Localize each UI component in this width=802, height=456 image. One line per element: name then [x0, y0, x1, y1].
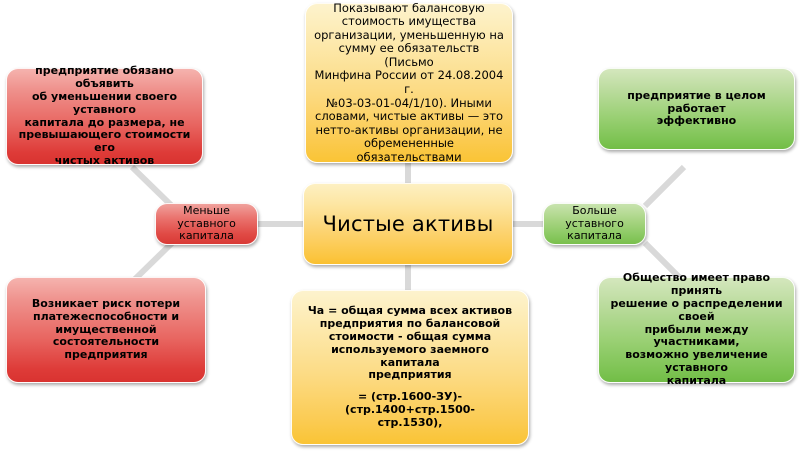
branch-label-more-text: Больше уставного капитала: [552, 205, 637, 244]
connector-less-to-topleft: [132, 167, 172, 206]
branch-label-less: Меньше уставного капитала: [155, 203, 258, 245]
formula-description: Ча = общая сумма всех активов предприяти…: [300, 305, 520, 383]
formula-box: Ча = общая сумма всех активов предприяти…: [291, 290, 529, 445]
center-node-net-assets: Чистые активы: [303, 183, 513, 265]
negative-consequence-text-2: Возникает риск потери платежеспособности…: [15, 298, 197, 363]
positive-consequence-text-1: предприятие в целом работает эффективно: [607, 90, 786, 129]
negative-consequence-text-1: предприятие обязано объявить об уменьшен…: [15, 65, 194, 169]
diagram-canvas: Показывают балансовую стоимость имуществ…: [0, 0, 802, 456]
connector-more-to-topright: [645, 167, 684, 206]
negative-consequence-box-2: Возникает риск потери платежеспособности…: [6, 277, 206, 383]
definition-text: Показывают балансовую стоимость имуществ…: [314, 2, 504, 165]
formula-equation: = (стр.1600-ЗУ)-(стр.1400+стр.1500- стр.…: [300, 391, 520, 430]
definition-box: Показывают балансовую стоимость имуществ…: [305, 3, 513, 163]
branch-label-less-text: Меньше уставного капитала: [164, 205, 249, 244]
positive-consequence-text-2: Общество имеет право принять решение о р…: [607, 272, 786, 389]
center-node-label: Чистые активы: [312, 212, 504, 237]
branch-label-more: Больше уставного капитала: [543, 203, 646, 245]
negative-consequence-box-1: предприятие обязано объявить об уменьшен…: [6, 68, 203, 165]
positive-consequence-box-2: Общество имеет право принять решение о р…: [598, 277, 795, 383]
positive-consequence-box-1: предприятие в целом работает эффективно: [598, 68, 795, 150]
